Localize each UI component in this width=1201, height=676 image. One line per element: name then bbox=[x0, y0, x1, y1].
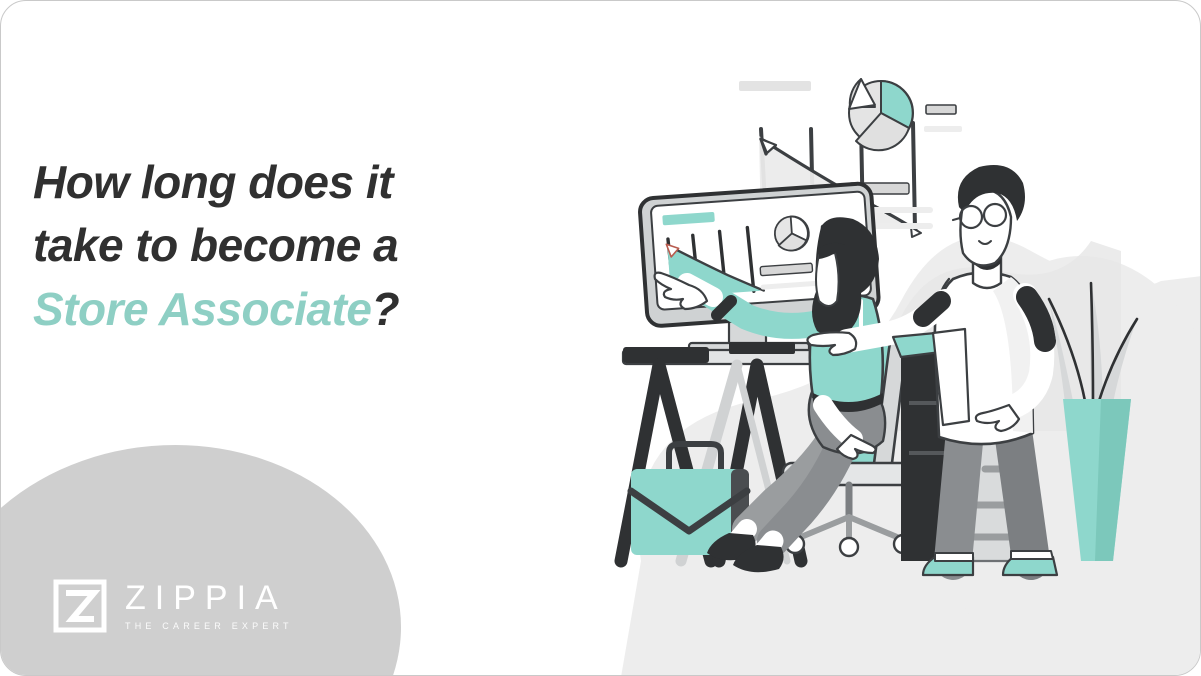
headline-question-mark: ? bbox=[372, 283, 400, 335]
headline-line-1: How long does it bbox=[33, 151, 503, 214]
floating-pie-chart bbox=[849, 79, 962, 150]
zippia-logo[interactable]: ZIPPIA THE CAREER EXPERT bbox=[53, 579, 293, 633]
headline-line-3: Store Associate? bbox=[33, 278, 503, 341]
headline-accent-text: Store Associate bbox=[33, 283, 372, 335]
hero-illustration bbox=[561, 1, 1201, 676]
zippia-tagline: THE CAREER EXPERT bbox=[125, 622, 293, 631]
promo-card: How long does it take to become a Store … bbox=[0, 0, 1201, 676]
page-title: How long does it take to become a Store … bbox=[33, 151, 503, 341]
text-placeholder-bar-top bbox=[739, 81, 811, 91]
headline-line-2: take to become a bbox=[33, 214, 503, 277]
zippia-wordmark-group: ZIPPIA THE CAREER EXPERT bbox=[125, 581, 293, 631]
zippia-wordmark: ZIPPIA bbox=[125, 581, 293, 615]
zippia-z-mark-icon bbox=[53, 579, 107, 633]
background-blob-shape bbox=[0, 445, 401, 676]
